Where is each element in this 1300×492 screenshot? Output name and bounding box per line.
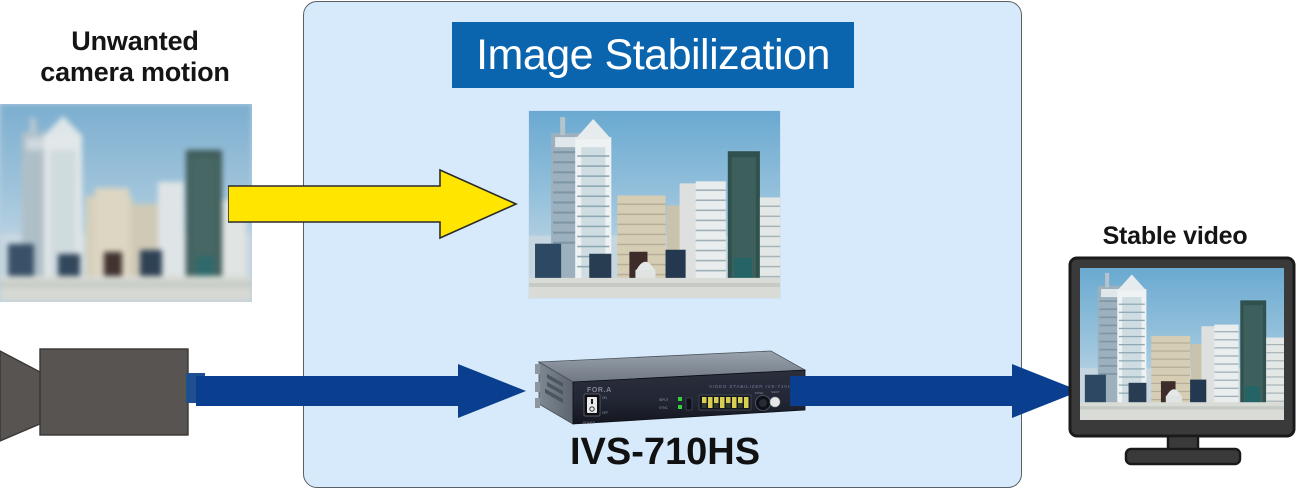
svg-text:SYNC: SYNC [659,406,669,410]
skyline-graphic-sharp [529,111,781,299]
unwanted-motion-label: Unwanted camera motion [0,26,270,88]
page-title: Image Stabilization [476,31,830,80]
unwanted-motion-label-line2: camera motion [0,57,270,88]
input-photo-blurred [0,104,252,302]
svg-text:INPUT: INPUT [659,398,669,402]
monitor-icon [1068,256,1296,471]
ivs-710hs-device: FOR.A VIDEO STABILIZER IVS-710HS ON OFF … [523,348,808,434]
device-brand-text: FOR.A [587,387,612,394]
arrow-right-icon-yellow [228,168,518,240]
stabilized-photo-sharp [528,110,781,299]
skyline-graphic-monitor [1080,268,1284,420]
monitor-screen-image [1080,268,1284,420]
arrow-right-icon-blue-input [196,364,526,418]
svg-text:SHIFT: SHIFT [771,390,780,394]
svg-text:OFF: OFF [602,411,608,415]
image-stabilization-title-banner: Image Stabilization [452,22,854,88]
stable-video-label: Stable video [1050,222,1300,251]
video-camera-icon [0,341,205,446]
unwanted-motion-label-line1: Unwanted [0,26,270,57]
svg-text:PUSH: PUSH [755,391,763,395]
device-faceplate-text: VIDEO STABILIZER IVS-710HS [709,384,796,389]
arrow-right-icon-blue-output [790,364,1080,418]
svg-text:POWER: POWER [583,421,596,425]
diagram-canvas: Unwanted camera motion [0,0,1300,492]
skyline-graphic-blurred [0,104,252,302]
svg-text:ON: ON [602,396,607,400]
device-model-label: IVS-710HS [510,431,820,474]
